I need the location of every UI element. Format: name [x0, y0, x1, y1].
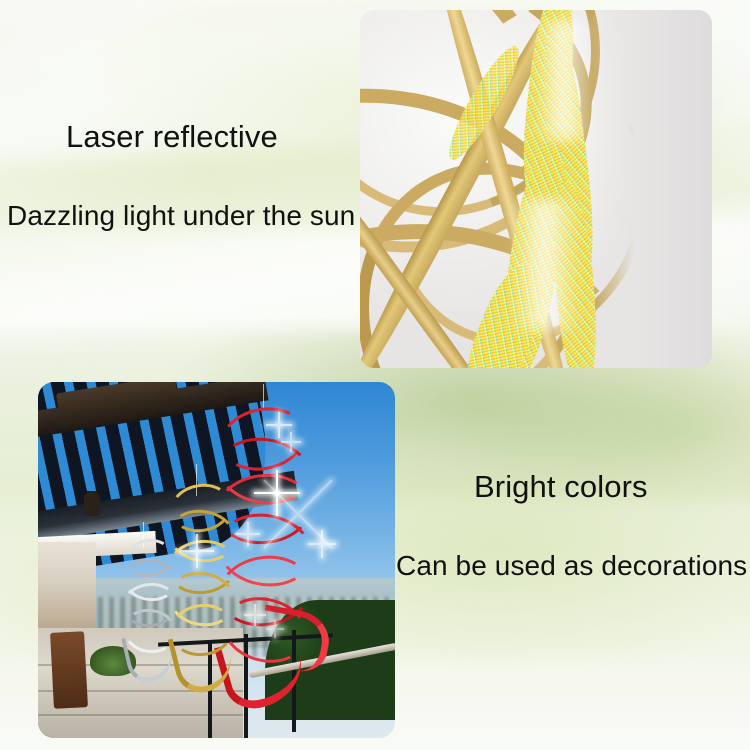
ribbon-sheen-highlight [510, 200, 580, 330]
caption-dazzling-light: Dazzling light under the sun [7, 200, 355, 232]
closeup-backdrop-gradient [592, 10, 712, 368]
deck-plank-line [38, 714, 243, 716]
caption-laser-reflective: Laser reflective [66, 119, 278, 155]
caption-bright-colors: Bright colors [474, 469, 648, 505]
deck-chair [50, 631, 88, 709]
caption-used-as-decorations: Can be used as decorations [396, 550, 747, 582]
gold-spiral-closeup-image [360, 10, 712, 368]
gold-ribbon-group [360, 10, 712, 368]
balcony-lifestyle-image [38, 382, 395, 738]
ribbon-sheen-highlight [534, 20, 594, 140]
gold-spinner [166, 482, 234, 692]
silver-spinner [122, 537, 174, 687]
pergola-lamp [84, 494, 100, 516]
product-marketing-image: Laser reflective Dazzling light under th… [0, 0, 750, 750]
